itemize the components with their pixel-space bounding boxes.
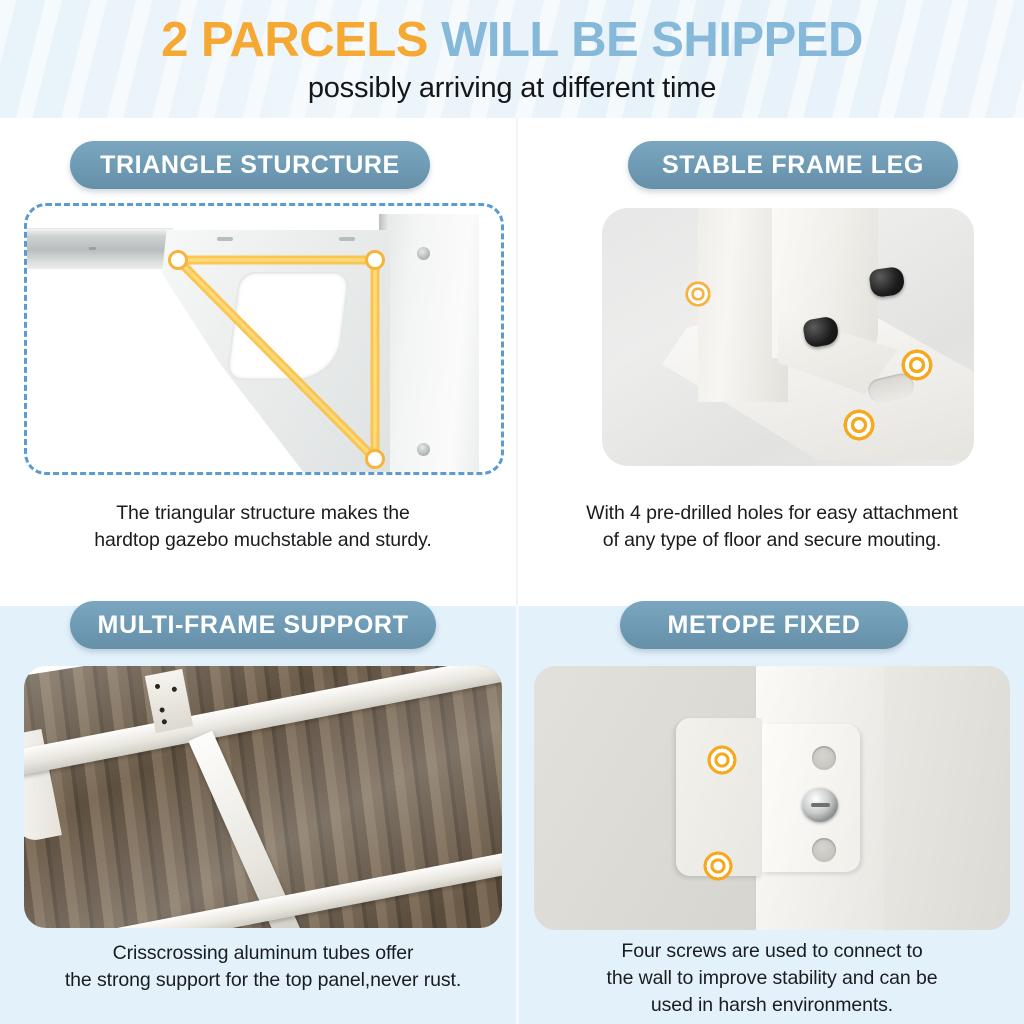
bracket-hole — [812, 746, 836, 770]
headline-highlight: 2 PARCELS — [161, 13, 428, 67]
caption-metope-fixed: Four screws are used to connect to the w… — [534, 938, 1010, 1019]
hole-marker-ring — [706, 744, 738, 776]
hole-marker-ring — [842, 408, 876, 442]
hole-marker-ring — [900, 348, 934, 382]
joint-bolt-icon — [171, 686, 177, 692]
caption-multi-frame-support: Crisscrossing aluminum tubes offer the s… — [24, 940, 502, 994]
joint-bolt-icon — [161, 719, 167, 725]
hole-marker-ring — [702, 850, 734, 882]
caption-line: used in harsh environments. — [534, 992, 1010, 1019]
bracket-hole — [812, 838, 836, 862]
joint-bolt-icon — [159, 707, 165, 713]
page-subtitle: possibly arriving at different time — [0, 74, 1024, 103]
photo-multi-frame-support — [24, 666, 502, 928]
black-bolt-cap — [868, 266, 906, 298]
triangle-highlight-overlay — [27, 206, 501, 472]
caption-line: With 4 pre-drilled holes for easy attach… — [534, 500, 1010, 527]
caption-line: the strong support for the top panel,nev… — [24, 967, 502, 994]
vertical-divider-top — [516, 118, 518, 606]
caption-line: Crisscrossing aluminum tubes offer — [24, 940, 502, 967]
infographic-page: 2 PARCELS WILL BE SHIPPED possibly arriv… — [0, 0, 1024, 1024]
joint-bolt-icon — [155, 683, 161, 689]
photo-stable-frame-leg — [602, 208, 974, 466]
chrome-screw-icon — [802, 788, 838, 822]
panel-badge-stable-frame-leg: STABLE FRAME LEG — [628, 141, 958, 189]
wall-surface-right — [884, 666, 1010, 930]
caption-line: of any type of floor and secure mouting. — [534, 527, 1010, 554]
caption-line: the wall to improve stability and can be — [534, 965, 1010, 992]
caption-line: hardtop gazebo muchstable and sturdy. — [24, 527, 502, 554]
photo-metope-fixed — [534, 666, 1010, 930]
page-title: 2 PARCELS WILL BE SHIPPED — [0, 16, 1024, 65]
panel-badge-metope-fixed: METOPE FIXED — [620, 601, 908, 649]
photo-triangle-structure — [24, 203, 504, 475]
headline-rest: WILL BE SHIPPED — [441, 13, 863, 67]
caption-line: The triangular structure makes the — [24, 500, 502, 527]
hole-marker-ring — [684, 280, 712, 308]
caption-stable-frame-leg: With 4 pre-drilled holes for easy attach… — [534, 500, 1010, 554]
panel-badge-triangle-structure: TRIANGLE STURCTURE — [70, 141, 430, 189]
panel-badge-multi-frame-support: MULTI-FRAME SUPPORT — [70, 601, 436, 649]
caption-triangle-structure: The triangular structure makes the hardt… — [24, 500, 502, 554]
caption-line: Four screws are used to connect to — [534, 938, 1010, 965]
vertical-divider-bottom — [516, 606, 519, 1024]
